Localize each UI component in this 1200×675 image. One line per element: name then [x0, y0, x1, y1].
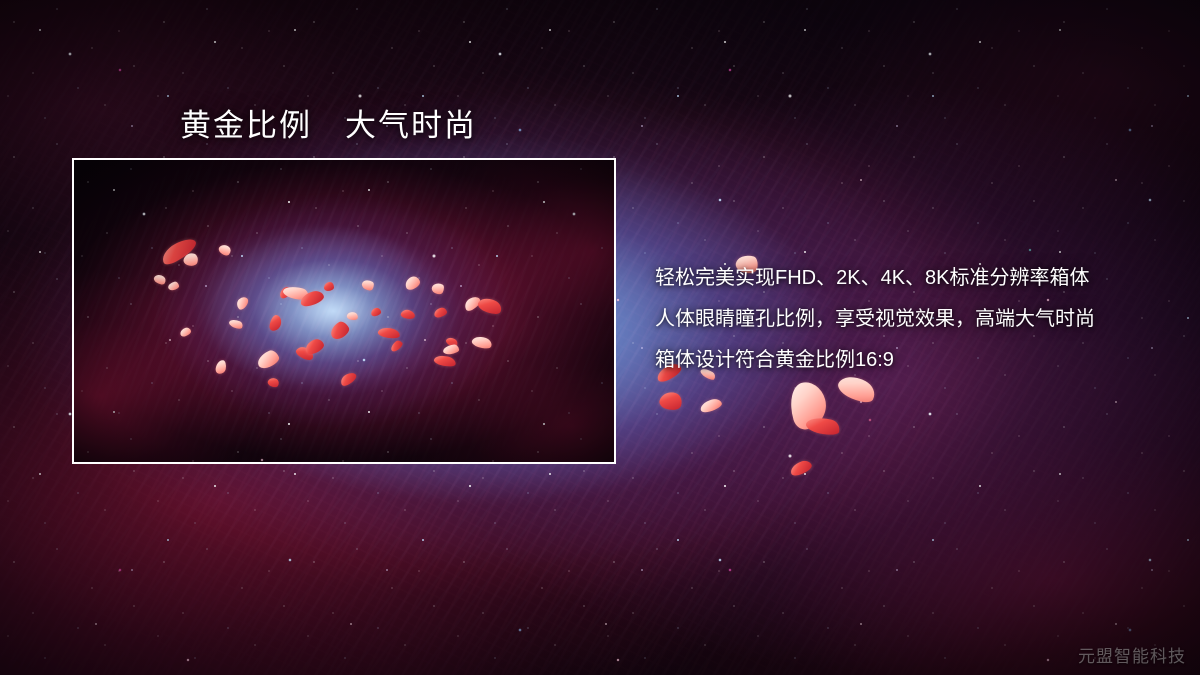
body-line-2: 人体眼睛瞳孔比例，享受视觉效果，高端大气时尚 [655, 299, 1155, 340]
flower-petal [699, 397, 723, 414]
flower-petal [658, 389, 684, 413]
watermark: 元盟智能科技 [1078, 642, 1186, 667]
flower-petal [789, 459, 814, 478]
framed-nebula-photo [72, 158, 616, 464]
flower-petal [784, 378, 831, 432]
page-title: 黄金比例 大气时尚 [180, 100, 477, 145]
slide-canvas: 黄金比例 大气时尚 轻松完美实现FHD、2K、4K、8K标准分辨率箱体 人体眼睛… [0, 0, 1200, 675]
body-copy: 轻松完美实现FHD、2K、4K、8K标准分辨率箱体 人体眼睛瞳孔比例，享受视觉效… [655, 258, 1155, 381]
body-line-1: 轻松完美实现FHD、2K、4K、8K标准分辨率箱体 [655, 258, 1155, 299]
photo-vignette [74, 160, 614, 462]
photo-inner [74, 160, 614, 462]
flower-petal [805, 415, 842, 438]
body-line-3: 箱体设计符合黄金比例16:9 [655, 340, 1155, 381]
